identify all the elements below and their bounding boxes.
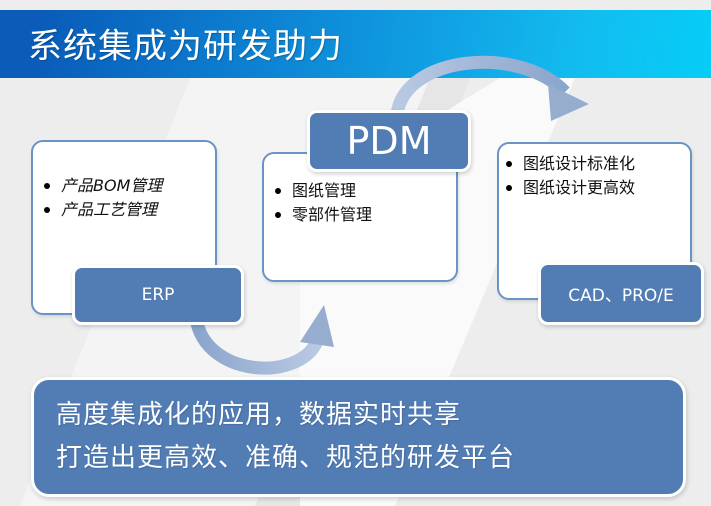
list-item: 图纸管理 bbox=[272, 179, 456, 203]
cad-feature-list: 图纸设计标准化 图纸设计更高效 bbox=[499, 144, 690, 200]
chip-cad[interactable]: CAD、PRO/E bbox=[538, 262, 704, 325]
chip-cad-label: CAD、PRO/E bbox=[568, 281, 674, 306]
title-bar: 系统集成为研发助力 bbox=[0, 10, 711, 78]
summary-line-2: 打造出更高效、准确、规范的研发平台 bbox=[56, 437, 683, 480]
erp-feature-list: 产品BOM管理 产品工艺管理 bbox=[33, 142, 215, 222]
list-item: 产品工艺管理 bbox=[41, 198, 215, 222]
slide-canvas: 系统集成为研发助力 产品BOM管理 产品工艺管理 bbox=[0, 0, 711, 506]
list-item: 图纸设计更高效 bbox=[503, 176, 690, 200]
list-item: 图纸设计标准化 bbox=[503, 152, 690, 176]
list-item: 产品BOM管理 bbox=[41, 174, 215, 198]
chip-pdm-label: PDM bbox=[347, 119, 432, 163]
summary-line-1: 高度集成化的应用，数据实时共享 bbox=[56, 394, 683, 437]
chip-erp[interactable]: ERP bbox=[72, 265, 244, 325]
chip-pdm[interactable]: PDM bbox=[307, 110, 471, 172]
list-item: 零部件管理 bbox=[272, 203, 456, 227]
page-title: 系统集成为研发助力 bbox=[28, 19, 343, 68]
chip-erp-label: ERP bbox=[142, 285, 175, 305]
summary-banner: 高度集成化的应用，数据实时共享 打造出更高效、准确、规范的研发平台 bbox=[31, 377, 686, 497]
